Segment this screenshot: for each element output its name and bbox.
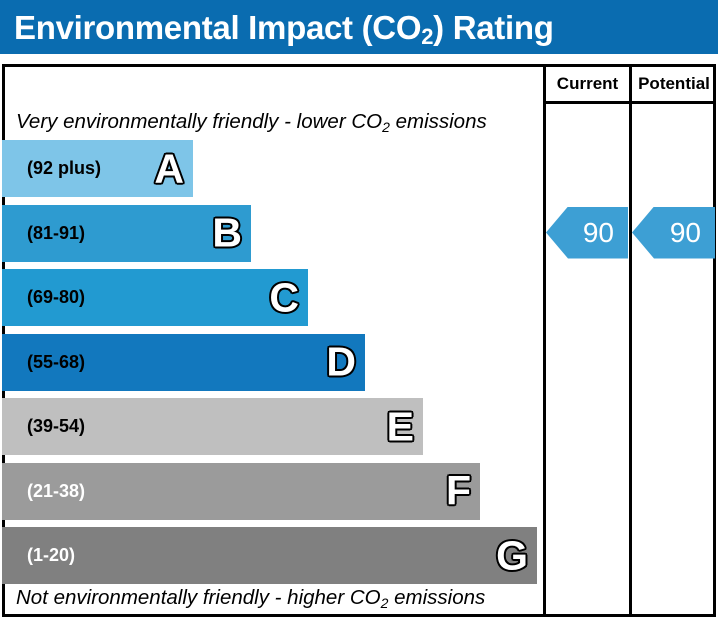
band-letter-label: A (154, 148, 184, 189)
caption-bottom-post: emissions (388, 586, 485, 609)
band-letter-label: E (387, 406, 414, 447)
current-rating-value: 90 (583, 217, 614, 249)
band-range-label: (69-80) (2, 287, 85, 308)
rating-band-b: (81-91) B (2, 205, 251, 262)
divider-potential-column (629, 64, 632, 617)
caption-bottom-pre: Not environmentally friendly - higher CO (16, 586, 381, 609)
title-main-text: Environmental Impact (CO (14, 9, 421, 46)
band-letter-label: F (446, 471, 471, 512)
caption-top-pre: Very environmentally friendly - lower CO (16, 110, 382, 133)
divider-current-column (543, 64, 546, 617)
rating-band-g: (1-20) G (2, 527, 537, 584)
column-header-potential: Potential (632, 67, 716, 101)
rating-band-c: (69-80) C (2, 269, 308, 326)
band-range-label: (1-20) (2, 545, 75, 566)
caption-bottom-subscript: 2 (381, 595, 389, 611)
rating-band-d: (55-68) D (2, 334, 365, 391)
band-range-label: (21-38) (2, 481, 85, 502)
band-range-label: (55-68) (2, 352, 85, 373)
band-letter-label: B (212, 213, 242, 254)
rating-band-e: (39-54) E (2, 398, 423, 455)
environmental-impact-rating-chart: Environmental Impact (CO2) Rating Curren… (0, 0, 718, 619)
band-range-label: (39-54) (2, 416, 85, 437)
caption-top: Very environmentally friendly - lower CO… (16, 110, 536, 134)
band-range-label: (81-91) (2, 223, 85, 244)
rating-band-a: (92 plus) A (2, 140, 193, 197)
title-tail-text: ) Rating (433, 9, 553, 46)
band-letter-label: D (326, 342, 356, 383)
band-letter-label: G (496, 535, 528, 576)
chart-title-bar: Environmental Impact (CO2) Rating (0, 0, 718, 54)
column-header-current: Current (546, 67, 629, 101)
rating-band-f: (21-38) F (2, 463, 480, 520)
page-title: Environmental Impact (CO2) Rating (0, 11, 554, 44)
caption-bottom: Not environmentally friendly - higher CO… (16, 586, 536, 610)
caption-top-subscript: 2 (382, 119, 390, 135)
band-letter-label: C (269, 277, 299, 318)
caption-top-post: emissions (390, 110, 487, 133)
potential-rating-value: 90 (670, 217, 701, 249)
divider-header-row (543, 101, 716, 104)
band-range-label: (92 plus) (2, 158, 101, 179)
title-subscript: 2 (421, 24, 433, 49)
